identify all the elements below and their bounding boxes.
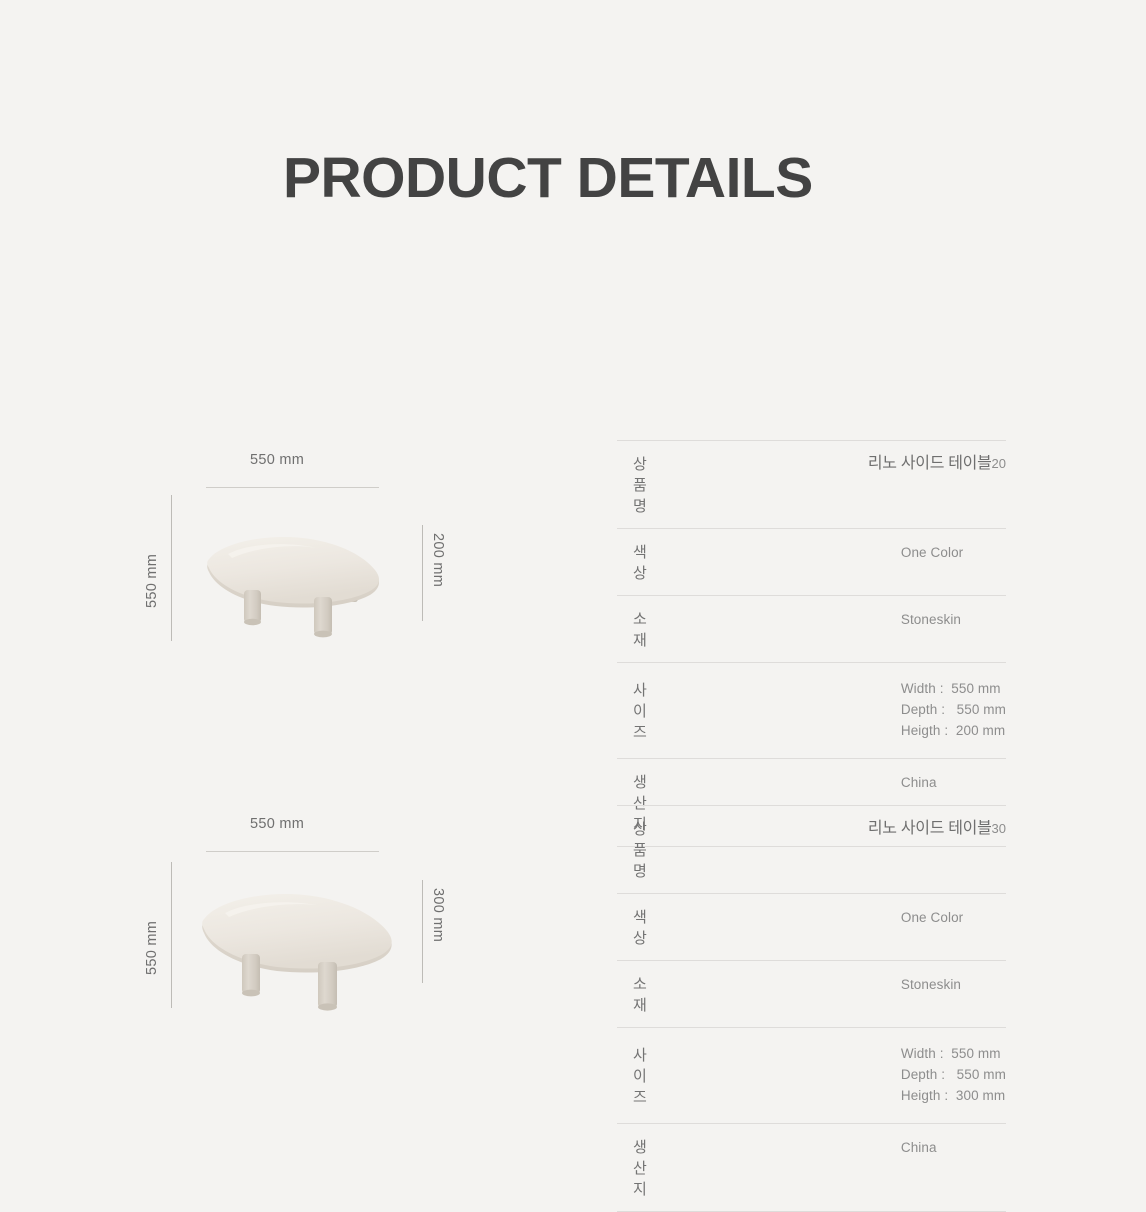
spec-label: 소재 <box>617 596 657 663</box>
spec-label: 사이즈 <box>617 1028 657 1124</box>
size-line-width: Width : 550 mm <box>901 1044 1006 1065</box>
spec-label: 사이즈 <box>617 663 657 759</box>
spec-value: Stoneskin <box>657 596 1006 663</box>
product-name-text: 리노 사이드 테이블 <box>868 820 992 837</box>
product-name-text: 리노 사이드 테이블 <box>868 455 992 472</box>
width-dimension-line-2 <box>206 851 379 852</box>
size-line-depth: Depth : 550 mm <box>901 700 1006 721</box>
table-row: 색상 One Color <box>617 894 1006 961</box>
spec-value: Stoneskin <box>657 961 1006 1028</box>
size-line-width: Width : 550 mm <box>901 679 1006 700</box>
product-visual-2: 550 mm 550 mm 300 mm <box>0 0 520 1100</box>
depth-dimension-label-2: 550 mm <box>144 921 160 975</box>
spec-value-size: Width : 550 mm Depth : 550 mm Heigth : 3… <box>657 1028 1006 1124</box>
size-line-depth: Depth : 550 mm <box>901 1065 1006 1086</box>
spec-label: 생산지 <box>617 1123 657 1211</box>
depth-dimension-line-2 <box>171 862 172 1008</box>
size-line-height: Heigth : 300 mm <box>901 1086 1006 1107</box>
spec-table-1: 상품명 리노 사이드 테이블20 색상 One Color 소재 Stonesk… <box>617 440 1006 847</box>
table-row: 사이즈 Width : 550 mm Depth : 550 mm Heigth… <box>617 663 1006 759</box>
table-row: 소재 Stoneskin <box>617 961 1006 1028</box>
table-row: 소재 Stoneskin <box>617 596 1006 663</box>
table-row: 색상 One Color <box>617 529 1006 596</box>
spec-value: One Color <box>657 529 1006 596</box>
spec-label: 상품명 <box>617 441 657 529</box>
spec-value: China <box>657 1123 1006 1211</box>
spec-value: 리노 사이드 테이블20 <box>657 441 1006 529</box>
spec-value: 리노 사이드 테이블30 <box>657 806 1006 894</box>
spec-label: 색상 <box>617 529 657 596</box>
spec-label: 소재 <box>617 961 657 1028</box>
spec-table-body-1: 상품명 리노 사이드 테이블20 색상 One Color 소재 Stonesk… <box>617 441 1006 847</box>
spec-value: One Color <box>657 894 1006 961</box>
size-line-height: Heigth : 200 mm <box>901 721 1006 742</box>
spec-label: 상품명 <box>617 806 657 894</box>
product-image-2 <box>196 884 406 1014</box>
spec-label: 색상 <box>617 894 657 961</box>
product-name-suffix: 20 <box>992 456 1006 471</box>
table-row: 상품명 리노 사이드 테이블30 <box>617 806 1006 894</box>
table-row: 생산지 China <box>617 1123 1006 1211</box>
spec-table-2: 상품명 리노 사이드 테이블30 색상 One Color 소재 Stonesk… <box>617 805 1006 1212</box>
height-dimension-line-2 <box>422 880 423 983</box>
height-dimension-label-2: 300 mm <box>430 888 446 942</box>
spec-value-size: Width : 550 mm Depth : 550 mm Heigth : 2… <box>657 663 1006 759</box>
width-dimension-label-2: 550 mm <box>250 816 304 832</box>
spec-table-body-2: 상품명 리노 사이드 테이블30 색상 One Color 소재 Stonesk… <box>617 806 1006 1212</box>
product-details-page: PRODUCT DETAILS 550 mm 550 mm 200 mm <box>0 0 1146 1146</box>
table-row: 사이즈 Width : 550 mm Depth : 550 mm Heigth… <box>617 1028 1006 1124</box>
table-row: 상품명 리노 사이드 테이블20 <box>617 441 1006 529</box>
product-name-suffix: 30 <box>992 821 1006 836</box>
